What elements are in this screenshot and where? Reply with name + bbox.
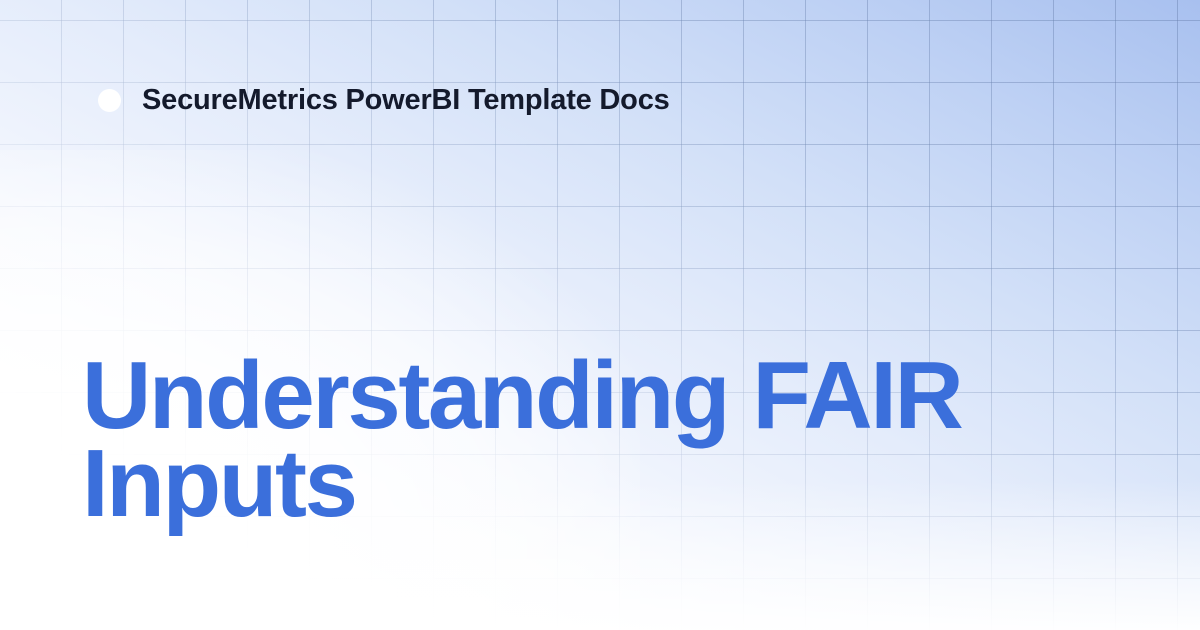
brand-label: SecureMetrics PowerBI Template Docs bbox=[142, 86, 670, 115]
bullet-dot-icon bbox=[98, 89, 121, 112]
og-banner-card: SecureMetrics PowerBI Template Docs Unde… bbox=[0, 0, 1200, 630]
banner-content: SecureMetrics PowerBI Template Docs Unde… bbox=[0, 0, 1200, 630]
brand-row: SecureMetrics PowerBI Template Docs bbox=[98, 86, 670, 115]
page-title: Understanding FAIR Inputs bbox=[82, 352, 1042, 528]
